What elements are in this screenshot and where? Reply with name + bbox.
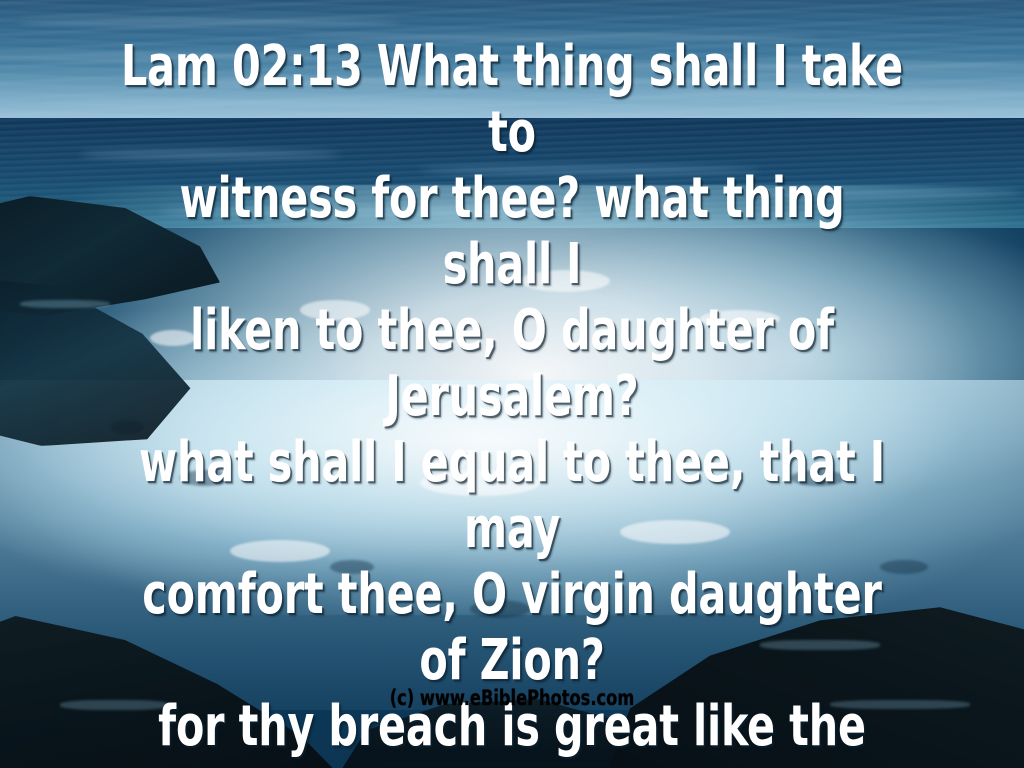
verse-text-overlay: Lam 02:13 What thing shall I take to wit…: [92, 34, 932, 768]
watermark-credit: (c) www.eBiblePhotos.com: [72, 686, 953, 710]
verse-line: witness for thee? what thing shall I: [120, 166, 904, 298]
verse-line: liken to thee, O daughter of Jerusalem?: [120, 298, 904, 430]
verse-line: comfort thee, O virgin daughter of Zion?: [120, 562, 904, 694]
cloud-streak: [20, 18, 400, 26]
verse-line: what shall I equal to thee, that I may: [120, 430, 904, 562]
verse-image-canvas: Lam 02:13 What thing shall I take to wit…: [0, 0, 1024, 768]
verse-line: Lam 02:13 What thing shall I take to: [120, 34, 904, 166]
